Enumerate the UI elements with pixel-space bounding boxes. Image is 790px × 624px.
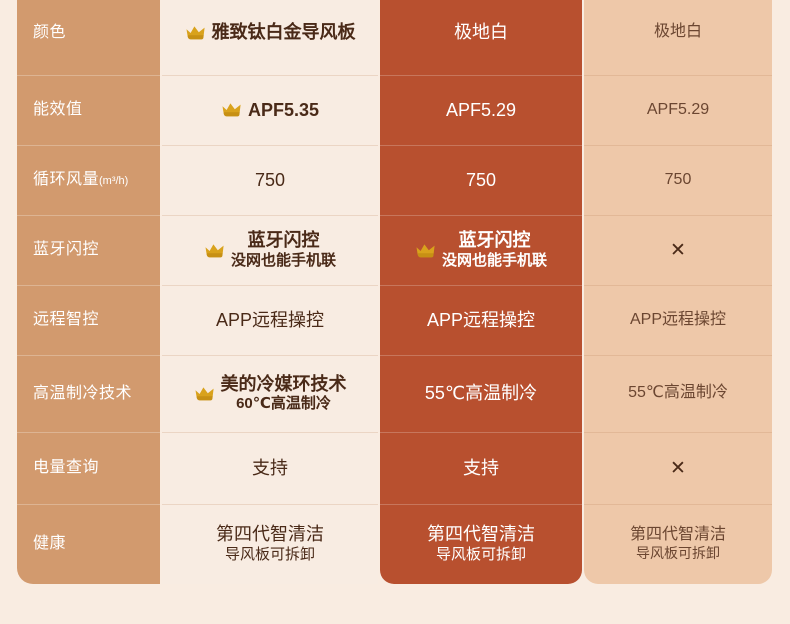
cell-text: 第四代智清洁导风板可拆卸 — [427, 523, 535, 565]
cell-value: 雅致钛白金导风板 — [185, 21, 356, 44]
cell-text: 雅致钛白金导风板 — [212, 21, 356, 44]
cell-value: 55℃高温制冷 — [628, 383, 728, 403]
cell-value: APF5.29 — [446, 99, 516, 122]
feature-label-text: 蓝牙闪控 — [33, 241, 99, 258]
cell-text: 支持 — [463, 457, 499, 480]
feature-label: 循环风量(m³/h) — [33, 170, 128, 190]
cell-text: 蓝牙闪控没网也能手机联 — [442, 229, 547, 271]
cell-line-primary: 第四代智清洁 — [630, 525, 726, 545]
feature-label-text: 循环风量 — [33, 171, 99, 188]
cell-value: 750 — [255, 169, 285, 192]
table-cell: 极地白 — [380, 0, 582, 75]
cell-text: 55℃高温制冷 — [425, 382, 537, 405]
cell-line-primary: APP远程操控 — [216, 309, 324, 332]
feature-cell: 高温制冷技术 — [17, 355, 160, 432]
table-cell: 蓝牙闪控没网也能手机联 — [380, 215, 582, 285]
cell-value: 美的冷媒环技术60℃高温制冷 — [194, 373, 347, 415]
feature-label: 颜色 — [33, 23, 66, 43]
feature-label-unit: (m³/h) — [99, 175, 128, 187]
feature-cell: 蓝牙闪控 — [17, 215, 160, 285]
feature-cell: 远程智控 — [17, 285, 160, 355]
cell-value: APP远程操控 — [216, 309, 324, 332]
cell-line-secondary: 导风板可拆卸 — [636, 545, 720, 563]
cross-icon: ✕ — [670, 241, 686, 260]
cell-line-primary: 极地白 — [454, 21, 508, 44]
table-cell: 雅致钛白金导风板 — [162, 0, 378, 75]
feature-column: 颜色能效值循环风量(m³/h)蓝牙闪控远程智控高温制冷技术电量查询健康 — [17, 0, 160, 584]
crown-icon — [204, 242, 226, 259]
cell-value: 极地白 — [654, 22, 702, 42]
cell-text: 极地白 — [654, 22, 702, 42]
feature-cell: 健康 — [17, 504, 160, 584]
table-cell: 极地白 — [584, 0, 772, 75]
cell-value: 55℃高温制冷 — [425, 382, 537, 405]
cell-line-primary: 支持 — [463, 457, 499, 480]
cell-value: 极地白 — [454, 21, 508, 44]
cell-line-primary: 第四代智清洁 — [427, 523, 535, 546]
cell-value: APP远程操控 — [427, 309, 535, 332]
cell-line-primary: APF5.35 — [248, 99, 319, 122]
table-cell: 750 — [584, 145, 772, 215]
table-cell: APP远程操控 — [162, 285, 378, 355]
feature-cell: 颜色 — [17, 0, 160, 75]
table-cell: 蓝牙闪控没网也能手机联 — [162, 215, 378, 285]
cell-value: 第四代智清洁导风板可拆卸 — [427, 523, 535, 565]
table-cell: 美的冷媒环技术60℃高温制冷 — [162, 355, 378, 432]
table-cell: 支持 — [162, 432, 378, 504]
table-cell: APP远程操控 — [380, 285, 582, 355]
cell-text: 蓝牙闪控没网也能手机联 — [231, 229, 336, 271]
cell-value: 第四代智清洁导风板可拆卸 — [216, 523, 324, 565]
product-column-b: 极地白APF5.29750蓝牙闪控没网也能手机联APP远程操控55℃高温制冷支持… — [380, 0, 582, 584]
cell-text: APP远程操控 — [630, 310, 726, 330]
cell-line-primary: 55℃高温制冷 — [425, 382, 537, 405]
feature-label: 健康 — [33, 534, 66, 554]
cell-text: 750 — [665, 170, 692, 190]
crown-icon — [194, 385, 216, 402]
cell-line-primary: 第四代智清洁 — [216, 523, 324, 546]
cell-line-primary: 750 — [466, 169, 496, 192]
feature-label-text: 高温制冷技术 — [33, 385, 132, 402]
crown-icon — [415, 242, 437, 259]
cell-line-primary: 美的冷媒环技术 — [221, 373, 347, 396]
table-cell: 750 — [162, 145, 378, 215]
cell-value: 750 — [665, 170, 692, 190]
cell-line-primary: 蓝牙闪控 — [247, 229, 319, 252]
cell-text: APF5.29 — [446, 99, 516, 122]
cell-line-secondary: 没网也能手机联 — [442, 252, 547, 271]
table-cell: 55℃高温制冷 — [380, 355, 582, 432]
table-cell: ✕ — [584, 215, 772, 285]
cell-line-secondary: 导风板可拆卸 — [436, 546, 526, 565]
cell-value: 750 — [466, 169, 496, 192]
cell-text: 750 — [466, 169, 496, 192]
cell-value: ✕ — [670, 459, 686, 478]
cell-value: 支持 — [463, 457, 499, 480]
cell-line-primary: 750 — [255, 169, 285, 192]
cell-line-primary: 蓝牙闪控 — [458, 229, 530, 252]
feature-label: 高温制冷技术 — [33, 384, 132, 404]
cell-text: 750 — [255, 169, 285, 192]
cell-value: 蓝牙闪控没网也能手机联 — [204, 229, 336, 271]
feature-label: 远程智控 — [33, 310, 99, 330]
cell-line-secondary: 没网也能手机联 — [231, 252, 336, 271]
cell-line-primary: 雅致钛白金导风板 — [212, 21, 356, 44]
cell-line-primary: APP远程操控 — [427, 309, 535, 332]
cell-line-primary: 55℃高温制冷 — [628, 383, 728, 403]
feature-label: 电量查询 — [33, 458, 99, 478]
cell-text: 55℃高温制冷 — [628, 383, 728, 403]
table-cell: APF5.29 — [380, 75, 582, 145]
cell-line-primary: APP远程操控 — [630, 310, 726, 330]
feature-label-text: 颜色 — [33, 24, 66, 41]
cell-text: 极地白 — [454, 21, 508, 44]
table-cell: APP远程操控 — [584, 285, 772, 355]
table-cell: APF5.35 — [162, 75, 378, 145]
cell-value: 蓝牙闪控没网也能手机联 — [415, 229, 547, 271]
cell-text: 第四代智清洁导风板可拆卸 — [216, 523, 324, 565]
cell-value: 第四代智清洁导风板可拆卸 — [630, 525, 726, 563]
cell-value: APF5.35 — [221, 99, 319, 122]
feature-cell: 电量查询 — [17, 432, 160, 504]
feature-label-text: 远程智控 — [33, 311, 99, 328]
cell-value: APF5.29 — [647, 100, 709, 120]
cell-text: APP远程操控 — [216, 309, 324, 332]
cell-line-secondary: 导风板可拆卸 — [225, 546, 315, 565]
table-cell: 支持 — [380, 432, 582, 504]
table-cell: APF5.29 — [584, 75, 772, 145]
feature-label-text: 能效值 — [33, 101, 83, 118]
cell-line-secondary: 60℃高温制冷 — [236, 395, 331, 414]
cross-icon: ✕ — [670, 459, 686, 478]
cell-value: ✕ — [670, 241, 686, 260]
table-cell: 750 — [380, 145, 582, 215]
cell-value: 支持 — [252, 457, 288, 480]
feature-label-text: 电量查询 — [33, 459, 99, 476]
feature-cell: 循环风量(m³/h) — [17, 145, 160, 215]
cell-value: APP远程操控 — [630, 310, 726, 330]
cell-text: APP远程操控 — [427, 309, 535, 332]
cell-line-primary: 750 — [665, 170, 692, 190]
table-cell: 第四代智清洁导风板可拆卸 — [162, 504, 378, 584]
cell-line-primary: 极地白 — [654, 22, 702, 42]
table-cell: 第四代智清洁导风板可拆卸 — [584, 504, 772, 584]
cell-line-primary: APF5.29 — [446, 99, 516, 122]
feature-label: 蓝牙闪控 — [33, 240, 99, 260]
cell-text: 支持 — [252, 457, 288, 480]
feature-label: 能效值 — [33, 100, 83, 120]
cell-line-primary: 支持 — [252, 457, 288, 480]
cell-text: 第四代智清洁导风板可拆卸 — [630, 525, 726, 563]
table-cell: 第四代智清洁导风板可拆卸 — [380, 504, 582, 584]
cell-line-primary: APF5.29 — [647, 100, 709, 120]
crown-icon — [185, 24, 207, 41]
crown-icon — [221, 101, 243, 118]
product-column-c: 极地白APF5.29750✕APP远程操控55℃高温制冷✕第四代智清洁导风板可拆… — [584, 0, 772, 584]
cell-text: 美的冷媒环技术60℃高温制冷 — [221, 373, 347, 415]
product-column-a: 雅致钛白金导风板APF5.35750蓝牙闪控没网也能手机联APP远程操控美的冷媒… — [162, 0, 378, 584]
comparison-table: 颜色能效值循环风量(m³/h)蓝牙闪控远程智控高温制冷技术电量查询健康 雅致钛白… — [0, 0, 790, 624]
feature-cell: 能效值 — [17, 75, 160, 145]
cell-text: APF5.35 — [248, 99, 319, 122]
table-cell: ✕ — [584, 432, 772, 504]
table-cell: 55℃高温制冷 — [584, 355, 772, 432]
feature-label-text: 健康 — [33, 535, 66, 552]
cell-text: APF5.29 — [647, 100, 709, 120]
